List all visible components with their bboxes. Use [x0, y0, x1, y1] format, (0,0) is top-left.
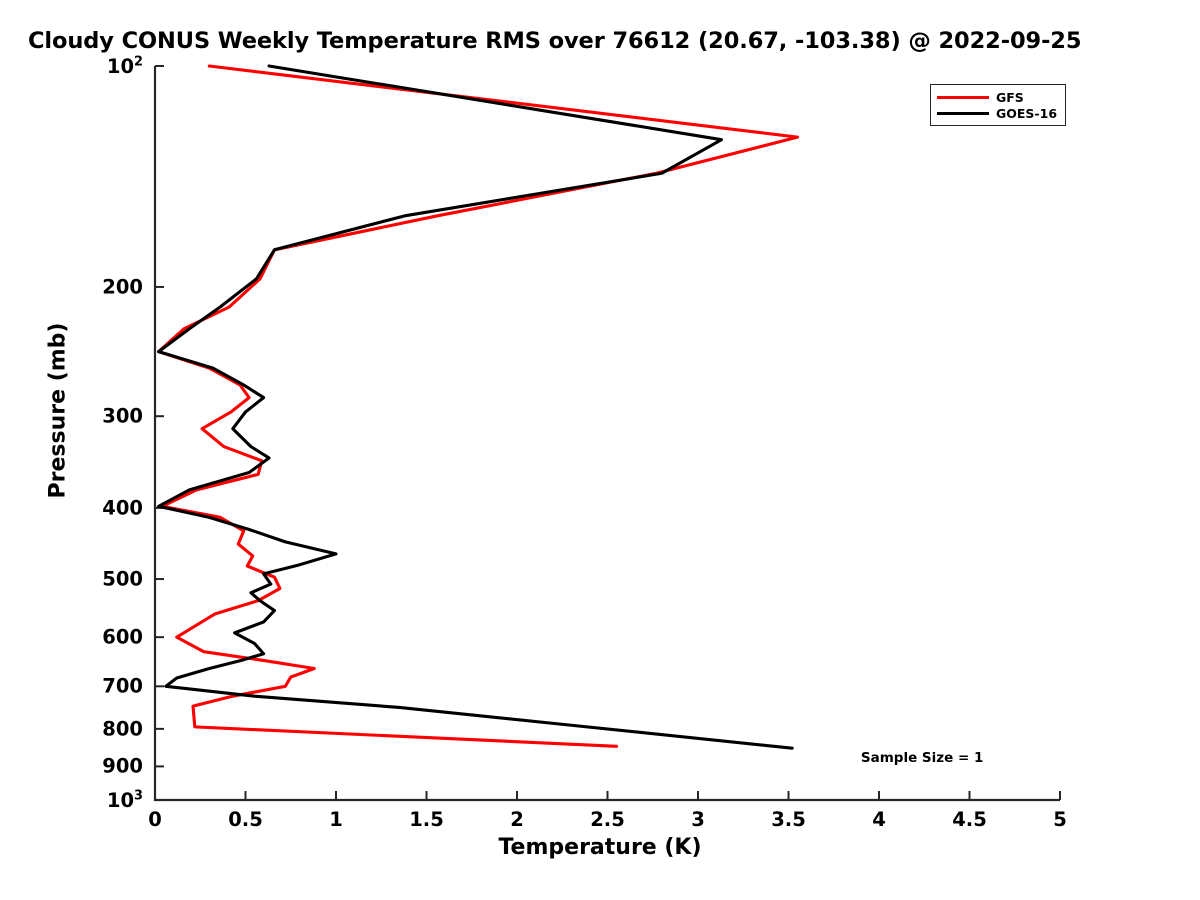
x-tick-label: 4.5 — [952, 808, 987, 831]
x-tick-label: 2 — [510, 808, 524, 831]
sample-size-annotation: Sample Size = 1 — [861, 750, 984, 766]
chart-figure: Cloudy CONUS Weekly Temperature RMS over… — [0, 0, 1200, 900]
y-tick-label: 400 — [0, 496, 143, 519]
axis-spines — [155, 66, 1060, 800]
y-tick-label: 800 — [0, 717, 143, 740]
x-tick-label: 4 — [872, 808, 886, 831]
y-tick-label: 300 — [0, 405, 143, 428]
legend-entry[interactable]: GFS — [937, 89, 1057, 105]
x-axis-label: Temperature (K) — [0, 835, 1200, 860]
legend-label: GFS — [996, 90, 1024, 105]
y-tick-label: 500 — [0, 568, 143, 591]
chart-legend[interactable]: GFSGOES-16 — [930, 84, 1066, 126]
legend-swatch-icon — [937, 96, 989, 99]
x-tick-label: 3 — [691, 808, 705, 831]
x-tick-label: 5 — [1053, 808, 1067, 831]
chart-title: Cloudy CONUS Weekly Temperature RMS over… — [28, 28, 1081, 54]
y-tick-label: 200 — [0, 275, 143, 298]
x-tick-label: 1 — [329, 808, 343, 831]
series-line-goes-16 — [159, 66, 793, 748]
plot-canvas — [0, 0, 1200, 900]
x-tick-label: 2.5 — [590, 808, 625, 831]
x-tick-label: 1.5 — [409, 808, 444, 831]
y-tick-label: 102 — [0, 54, 143, 78]
x-tick-label: 0 — [148, 808, 162, 831]
y-tick-label: 900 — [0, 755, 143, 778]
legend-label: GOES-16 — [996, 106, 1057, 121]
legend-swatch-icon — [937, 112, 989, 115]
y-axis-label: Pressure (mb) — [46, 301, 71, 521]
y-tick-label: 600 — [0, 626, 143, 649]
y-tick-label: 103 — [0, 788, 143, 812]
y-tick-label: 700 — [0, 675, 143, 698]
x-tick-label: 3.5 — [771, 808, 806, 831]
legend-entry[interactable]: GOES-16 — [937, 105, 1057, 121]
x-tick-label: 0.5 — [228, 808, 263, 831]
